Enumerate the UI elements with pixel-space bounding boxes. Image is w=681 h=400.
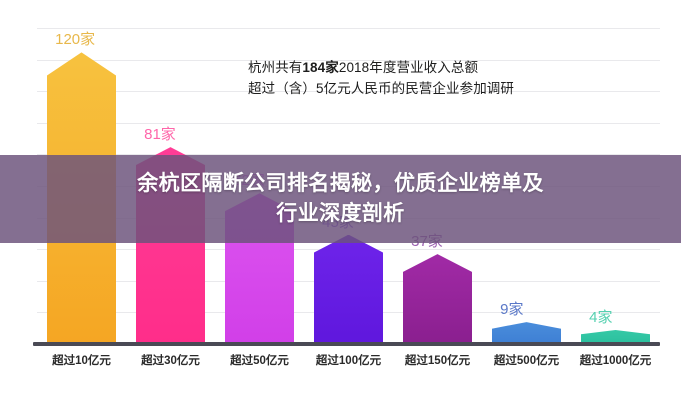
annotation-line1-post: 2018年度营业收入总额 <box>339 60 478 75</box>
chart-bar-value-label: 4家 <box>589 306 612 327</box>
annotation-line1-bold: 184家 <box>302 60 338 75</box>
chart-bar-fill <box>492 322 561 344</box>
chart-x-label: 超过100亿元 <box>304 352 393 368</box>
chart-x-axis-line <box>33 342 660 346</box>
chart-bar-fill <box>314 235 383 344</box>
chart-x-label: 超过150亿元 <box>393 352 482 368</box>
chart-annotation: 杭州共有184家2018年度营业收入总额 超过（含）5亿元人民币的民营企业参加调… <box>248 58 588 100</box>
chart-bar-value-label: 81家 <box>144 123 176 144</box>
page-title-line-1: 余杭区隔断公司排名揭秘，优质企业榜单及 <box>137 169 544 199</box>
chart-x-axis-labels: 超过10亿元超过30亿元超过50亿元超过100亿元超过150亿元超过500亿元超… <box>37 352 660 380</box>
chart-x-label: 超过1000亿元 <box>571 352 660 368</box>
chart-x-label: 超过500亿元 <box>482 352 571 368</box>
page-title-line-2: 行业深度剖析 <box>276 199 404 229</box>
chart-x-label: 超过50亿元 <box>215 352 304 368</box>
chart-bar <box>492 322 561 344</box>
infographic-canvas: 120家81家62家45家37家9家4家 杭州共有184家2018年度营业收入总… <box>0 0 681 400</box>
chart-x-label: 超过10亿元 <box>37 352 126 368</box>
chart-bar-fill <box>403 254 472 344</box>
chart-bar-value-label: 9家 <box>500 298 523 319</box>
chart-bar-value-label: 120家 <box>55 28 95 49</box>
chart-bar <box>403 254 472 344</box>
annotation-line-1: 杭州共有184家2018年度营业收入总额 <box>248 58 588 79</box>
chart-bar <box>314 235 383 344</box>
page-title: 余杭区隔断公司排名揭秘，优质企业榜单及 行业深度剖析 <box>0 155 681 243</box>
chart-x-label: 超过30亿元 <box>126 352 215 368</box>
annotation-line1-pre: 杭州共有 <box>248 60 302 75</box>
annotation-line-2: 超过（含）5亿元人民币的民营企业参加调研 <box>248 79 588 100</box>
